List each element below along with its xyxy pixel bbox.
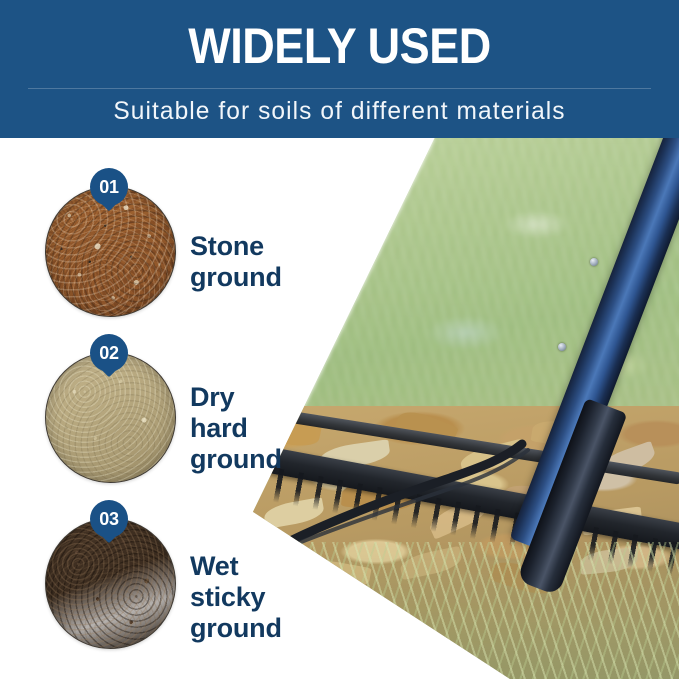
page-title: WIDELY USED	[34, 18, 645, 74]
badge-03: 03	[90, 500, 128, 538]
badge-number: 02	[90, 334, 128, 372]
badge-number: 03	[90, 500, 128, 538]
page-subtitle: Suitable for soils of different material…	[7, 94, 672, 128]
header-banner: WIDELY USED Suitable for soils of differ…	[0, 0, 679, 138]
handle-rivet-lower	[558, 343, 566, 351]
soil-type-label-02: Dry hard ground	[190, 382, 282, 475]
soil-type-label-01: Stone ground	[190, 231, 282, 293]
header-divider	[28, 88, 651, 89]
badge-02: 02	[90, 334, 128, 372]
badge-01: 01	[90, 168, 128, 206]
handle-rivet-upper	[590, 258, 598, 266]
badge-number: 01	[90, 168, 128, 206]
soil-type-label-03: Wet sticky ground	[190, 551, 282, 644]
